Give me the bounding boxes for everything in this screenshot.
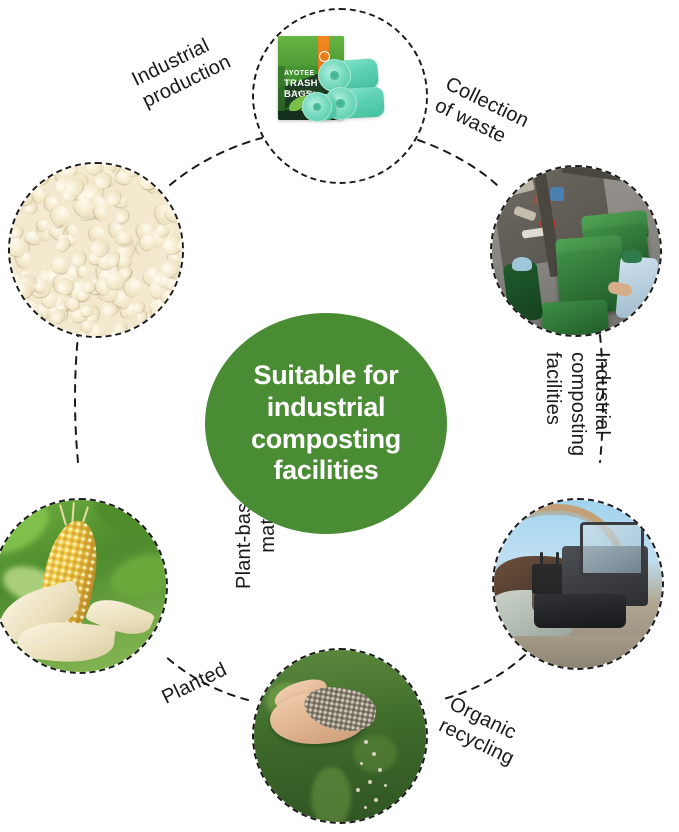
corn-silk [59,504,67,526]
worker-left-cap [512,257,532,271]
image-bioplastic-pellets [8,162,184,338]
background-leaf [88,498,168,553]
product-brand: AYOTEE [284,70,315,77]
connector-box-to-collection [418,140,500,188]
pellet [36,334,53,338]
image-organic-recycling-yard [492,498,664,670]
image-corn-cob [0,498,168,674]
pellet [183,318,184,330]
falling-granule [360,762,363,765]
yard-ground [492,636,664,670]
falling-granule [378,768,382,772]
pellet [175,175,184,192]
falling-granule [384,784,387,787]
falling-granule [364,740,368,744]
loader-cab [580,522,644,576]
node-collection-of-waste[interactable] [490,165,662,337]
pellet [54,336,70,338]
infographic-canvas: AYOTEE TRASH BAGS Fit Your Care Industri… [0,0,679,832]
image-waste-collection [490,165,662,337]
pellet [71,250,87,266]
pellet [116,209,128,222]
green-bin-bottom [541,299,609,337]
image-hand-scattering-compost [252,648,428,824]
grapple-tine [556,552,559,568]
debris [550,187,564,201]
pellet [118,232,132,245]
connector-planted-to-material [75,336,78,462]
pellet [105,271,124,289]
node-organic-recycling[interactable] [492,498,664,670]
center-badge-text: Suitable for industrial composting facil… [239,360,413,486]
falling-granule [368,780,372,784]
falling-granule [364,806,367,809]
falling-granule [372,752,376,756]
background-leaf [105,547,168,605]
pellet-field [8,162,184,338]
center-badge: Suitable for industrial composting facil… [205,313,447,534]
pellet [173,323,184,338]
falling-granule [374,798,378,802]
node-plant-based-material[interactable] [0,498,168,674]
falling-granule [356,788,360,792]
label-organic-recycling: Organic recycling [435,692,609,810]
loader-bucket [534,594,626,628]
worker-right-cap [622,249,642,263]
image-trash-bag-product: AYOTEE TRASH BAGS Fit Your Care [252,8,428,184]
grapple-tine [540,552,543,568]
node-bioplastic-pellets[interactable] [8,162,184,338]
connector-pellets-to-box [170,138,262,185]
node-planted[interactable] [252,648,428,824]
node-industrial-production[interactable]: AYOTEE TRASH BAGS Fit Your Care [252,8,428,184]
bag-roll-small-end [302,92,332,122]
pellet [174,299,184,317]
